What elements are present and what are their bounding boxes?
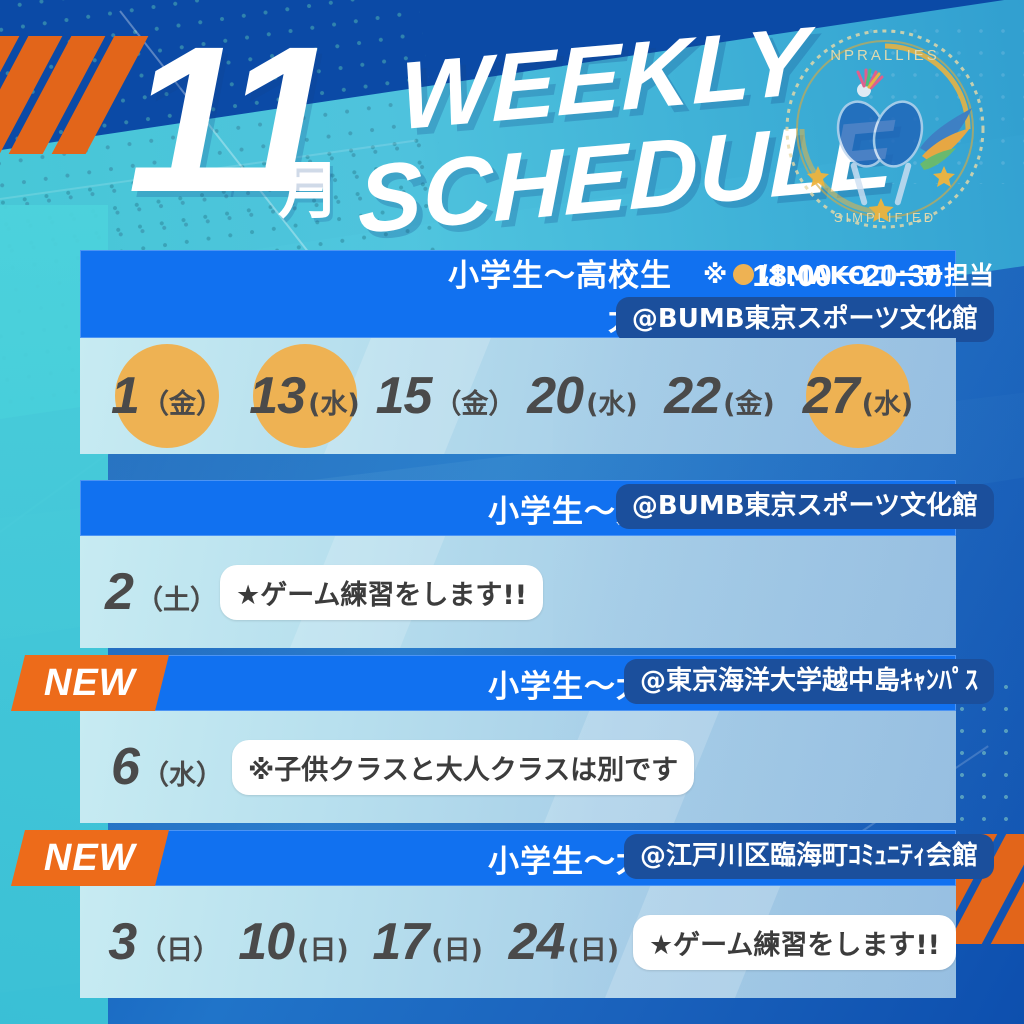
schedule-block-2: 小学生～大人 9:00－13:00 @BUMB東京スポーツ文化館 2 （土） ★… — [80, 480, 956, 648]
date-weekday: (日) — [567, 928, 619, 967]
date-item[interactable]: 20 (水) — [514, 366, 651, 426]
date-item[interactable]: 1 （金） — [102, 366, 232, 426]
date-item[interactable]: 6 （水） — [102, 737, 232, 797]
block-4-dates: 3 （日） 10 (日) 17 (日) 24 (日) ★ゲーム練習をします!! — [80, 886, 956, 998]
date-weekday: （日） — [139, 928, 220, 967]
date-number: 6 — [111, 737, 139, 797]
block-2-note-pill: ★ゲーム練習をします!! — [220, 565, 543, 620]
date-weekday: （金） — [142, 382, 223, 421]
block-4-header-bar: NEW 小学生～大人 16:30－19:00 @江戸川区臨海町ｺﾐｭﾆﾃｨ会館 — [80, 830, 956, 886]
date-item[interactable]: 3 （日） — [102, 912, 226, 972]
date-weekday: (日) — [297, 928, 349, 967]
block-2-body: 2 （土） ★ゲーム練習をします!! — [80, 536, 956, 648]
note-text: はMAKOコーチ担当 — [760, 256, 994, 292]
date-number: 20 — [527, 366, 583, 426]
date-item[interactable]: 27 (水) — [788, 366, 928, 426]
block-2-venue-pill: @BUMB東京スポーツ文化館 — [616, 484, 994, 529]
block-1-dates: 1 （金） 13 (水) 15 （金） 20 (水) 22 (金) — [80, 338, 956, 454]
date-weekday: （土） — [136, 578, 217, 617]
schedule-block-1: 小学生～高校生 18:00－20:30 大人 20:30－22:00 ※ はMA… — [80, 250, 956, 454]
date-weekday: （水） — [142, 753, 223, 792]
schedule-block-3: NEW 小学生～大人 18:00－21:00 @東京海洋大学越中島ｷｬﾝﾊﾟｽ … — [80, 655, 956, 823]
date-number: 17 — [372, 912, 428, 972]
date-weekday: （金） — [434, 382, 515, 421]
note-prefix: ※ — [703, 260, 727, 289]
date-number: 15 — [376, 366, 432, 426]
date-number: 2 — [105, 562, 133, 622]
block-3-note-pill: ※子供クラスと大人クラスは別です — [232, 740, 694, 795]
block-3-venue-pill: @東京海洋大学越中島ｷｬﾝﾊﾟｽ — [624, 659, 994, 704]
block-4-note-pill: ★ゲーム練習をします!! — [633, 915, 956, 970]
date-item[interactable]: 2 （土） — [102, 562, 220, 622]
block-2-header-bar: 小学生～大人 9:00－13:00 @BUMB東京スポーツ文化館 — [80, 480, 956, 536]
date-item[interactable]: 17 (日) — [361, 912, 495, 972]
date-number: 1 — [111, 366, 139, 426]
date-weekday: (水) — [862, 382, 914, 421]
schedule-poster: 11 月 WEEKLY SCHEDULE — [0, 0, 1024, 1024]
date-number: 22 — [664, 366, 720, 426]
date-number: 27 — [803, 366, 859, 426]
block-4-venue-pill: @江戸川区臨海町ｺﾐｭﾆﾃｨ会館 — [624, 834, 994, 879]
date-item[interactable]: 22 (金) — [651, 366, 788, 426]
date-item[interactable]: 13 (水) — [232, 366, 377, 426]
date-weekday: (日) — [431, 928, 483, 967]
date-weekday: (金) — [723, 382, 775, 421]
block-1-body: 1 （金） 13 (水) 15 （金） 20 (水) 22 (金) — [80, 338, 956, 454]
date-item[interactable]: 10 (日) — [226, 912, 360, 972]
date-number: 3 — [108, 912, 136, 972]
block-3-body: 6 （水） ※子供クラスと大人クラスは別です — [80, 711, 956, 823]
block-3-header-bar: NEW 小学生～大人 18:00－21:00 @東京海洋大学越中島ｷｬﾝﾊﾟｽ — [80, 655, 956, 711]
date-number: 13 — [249, 366, 305, 426]
date-weekday: (水) — [586, 382, 638, 421]
block-1-header-bar: 小学生～高校生 18:00－20:30 大人 20:30－22:00 ※ はMA… — [80, 250, 956, 338]
badminton-emblem-logo: NPRALLIES SIMPLIFIED — [782, 26, 988, 232]
block-4-body: 3 （日） 10 (日) 17 (日) 24 (日) ★ゲーム練習をします!! — [80, 886, 956, 998]
emblem-bottom-text: SIMPLIFIED — [834, 210, 936, 225]
audience-label: 小学生～高校生 — [448, 250, 672, 295]
block-2-dates: 2 （土） ★ゲーム練習をします!! — [80, 536, 956, 648]
date-number: 10 — [238, 912, 294, 972]
block-3-dates: 6 （水） ※子供クラスと大人クラスは別です — [80, 711, 956, 823]
date-item[interactable]: 15 （金） — [377, 366, 514, 426]
month-suffix-label: 月 — [278, 140, 340, 230]
mako-coach-note: ※ はMAKOコーチ担当 — [703, 256, 994, 292]
date-number: 24 — [509, 912, 565, 972]
date-weekday: (水) — [308, 382, 360, 421]
block-1-venue-pill: @BUMB東京スポーツ文化館 — [616, 297, 994, 342]
date-item[interactable]: 24 (日) — [495, 912, 633, 972]
schedule-block-4: NEW 小学生～大人 16:30－19:00 @江戸川区臨海町ｺﾐｭﾆﾃｨ会館 … — [80, 830, 956, 998]
emblem-top-text: NPRALLIES — [830, 47, 940, 64]
poster-header: 11 月 WEEKLY SCHEDULE — [0, 0, 1024, 250]
orange-dot-icon — [733, 264, 754, 285]
